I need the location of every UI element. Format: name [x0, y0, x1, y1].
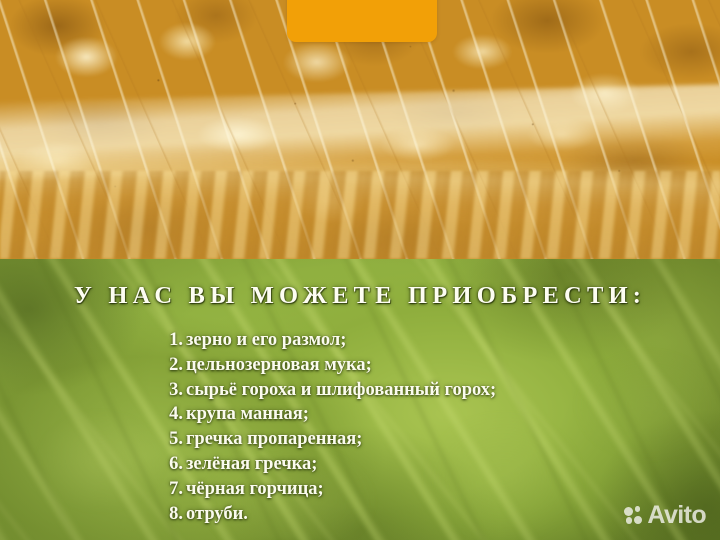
- list-item-label: цельнозерновая мука;: [186, 353, 372, 378]
- list-item-label: сырьё гороха и шлифованный горох;: [186, 378, 496, 403]
- product-list: 1. зерно и его размол; 2. цельнозерновая…: [155, 328, 496, 526]
- list-item-label: гречка пропаренная;: [186, 427, 362, 452]
- avito-dots-logo-icon: [624, 506, 643, 525]
- orange-label-box[interactable]: [287, 0, 437, 42]
- list-item-number: 6.: [155, 452, 183, 477]
- list-item-number: 4.: [155, 402, 183, 427]
- list-item-number: 2.: [155, 353, 183, 378]
- list-item-label: отруби.: [186, 502, 248, 527]
- list-item-label: крупа манная;: [186, 402, 309, 427]
- avito-watermark: Avito: [624, 503, 706, 528]
- list-item: 6. зелёная гречка;: [155, 452, 496, 477]
- list-item-label: чёрная горчица;: [186, 477, 324, 502]
- list-item: 8. отруби.: [155, 502, 496, 527]
- list-item: 3. сырьё гороха и шлифованный горох;: [155, 378, 496, 403]
- avito-wordmark: Avito: [647, 503, 706, 528]
- list-item-number: 8.: [155, 502, 183, 527]
- list-item-number: 1.: [155, 328, 183, 353]
- banner-heading: У НАС ВЫ МОЖЕТЕ ПРИОБРЕСТИ:: [0, 284, 720, 309]
- list-item: 1. зерно и его размол;: [155, 328, 496, 353]
- list-item-number: 5.: [155, 427, 183, 452]
- list-item-label: зелёная гречка;: [186, 452, 317, 477]
- list-item-number: 3.: [155, 378, 183, 403]
- wheat-straw-band: [0, 171, 720, 259]
- list-item-number: 7.: [155, 477, 183, 502]
- advertisement-banner: У НАС ВЫ МОЖЕТЕ ПРИОБРЕСТИ: 1. зерно и е…: [0, 0, 720, 540]
- list-item: 7. чёрная горчица;: [155, 477, 496, 502]
- list-item-label: зерно и его размол;: [186, 328, 346, 353]
- list-item: 2. цельнозерновая мука;: [155, 353, 496, 378]
- list-item: 4. крупа манная;: [155, 402, 496, 427]
- list-item: 5. гречка пропаренная;: [155, 427, 496, 452]
